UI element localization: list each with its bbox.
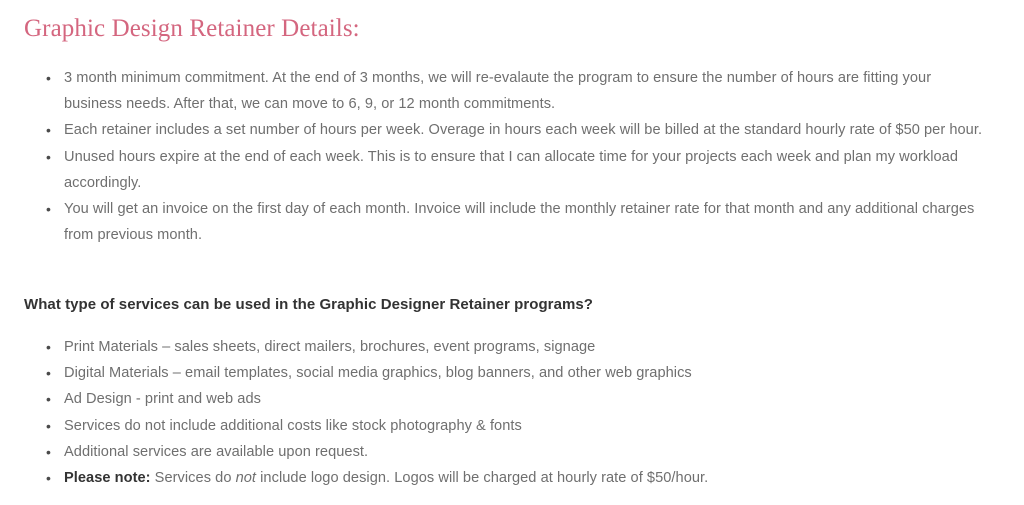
list-item: Additional services are available upon r…: [41, 439, 993, 465]
list-item: Print Materials – sales sheets, direct m…: [41, 334, 993, 360]
services-list: Print Materials – sales sheets, direct m…: [41, 334, 993, 491]
list-item-text: Ad Design - print and web ads: [64, 391, 261, 407]
list-item-text: Additional services are available upon r…: [64, 444, 368, 460]
list-item: Ad Design - print and web ads: [41, 386, 993, 412]
list-item-text: Print Materials – sales sheets, direct m…: [64, 339, 595, 355]
please-note-emphasis: not: [236, 470, 256, 486]
list-item-text: You will get an invoice on the first day…: [64, 201, 974, 243]
list-item-text: Each retainer includes a set number of h…: [64, 122, 982, 138]
list-item: Each retainer includes a set number of h…: [41, 117, 993, 143]
services-question-heading: What type of services can be used in the…: [24, 293, 593, 317]
list-item: You will get an invoice on the first day…: [41, 196, 993, 248]
list-item-text: Services do not include additional costs…: [64, 418, 522, 434]
retainer-details-page: Graphic Design Retainer Details: 3 month…: [0, 0, 1024, 505]
retainer-details-list: 3 month minimum commitment. At the end o…: [41, 65, 993, 248]
list-item-text: Unused hours expire at the end of each w…: [64, 149, 958, 191]
please-note-text-before: Services do: [151, 470, 236, 486]
list-item: Unused hours expire at the end of each w…: [41, 144, 993, 196]
list-item: 3 month minimum commitment. At the end o…: [41, 65, 993, 117]
page-title: Graphic Design Retainer Details:: [24, 14, 360, 44]
please-note-text-after: include logo design. Logos will be charg…: [256, 470, 708, 486]
please-note-label: Please note:: [64, 470, 151, 486]
list-item: Services do not include additional costs…: [41, 413, 993, 439]
list-item-text: 3 month minimum commitment. At the end o…: [64, 70, 931, 112]
list-item-please-note: Please note: Services do not include log…: [41, 465, 993, 491]
list-item-text: Digital Materials – email templates, soc…: [64, 365, 692, 381]
list-item: Digital Materials – email templates, soc…: [41, 360, 993, 386]
